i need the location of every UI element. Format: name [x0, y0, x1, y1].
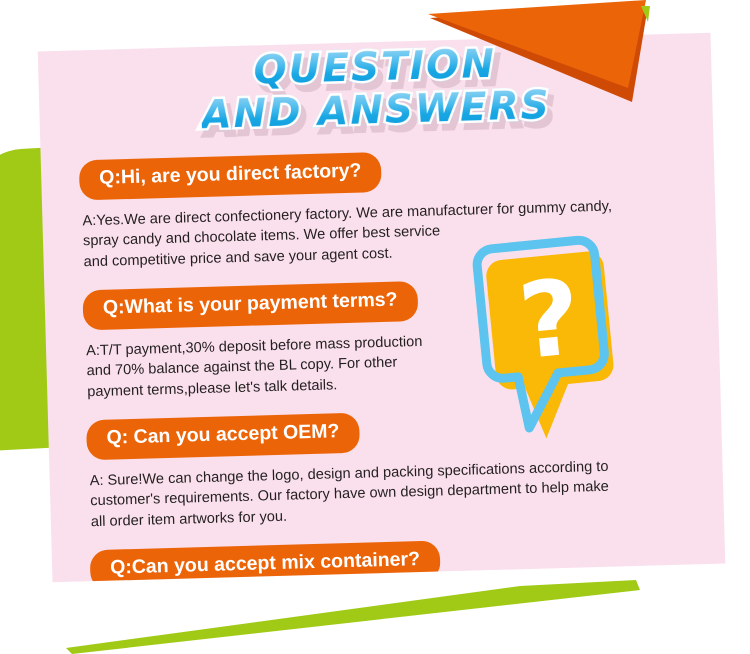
green-bottom-sliver-shape [66, 580, 640, 654]
qa-list: Q:Hi, are you direct factory? A:Yes.We a… [41, 143, 725, 583]
question-pill[interactable]: Q:Hi, are you direct factory? [79, 152, 382, 200]
qa-block: Q: Can you accept OEM? A: Sure!We can ch… [48, 403, 724, 534]
poster-canvas: QUESTION AND ANSWERS ? [0, 0, 750, 654]
qa-card-inner: QUESTION AND ANSWERS ? [38, 33, 726, 583]
title-text-question: QUESTION [253, 45, 496, 91]
question-pill[interactable]: Q:What is your payment terms? [82, 281, 418, 330]
title-text-answers: AND ANSWERS [201, 86, 551, 135]
page-title: QUESTION AND ANSWERS [38, 39, 713, 140]
qa-block: Q:What is your payment terms? A:T/T paym… [44, 273, 720, 404]
qa-block: Q:Hi, are you direct factory? A:Yes.We a… [41, 143, 717, 274]
qa-card: QUESTION AND ANSWERS ? [38, 33, 726, 583]
green-nub-shape [641, 6, 650, 22]
question-pill[interactable]: Q: Can you accept OEM? [86, 413, 360, 460]
